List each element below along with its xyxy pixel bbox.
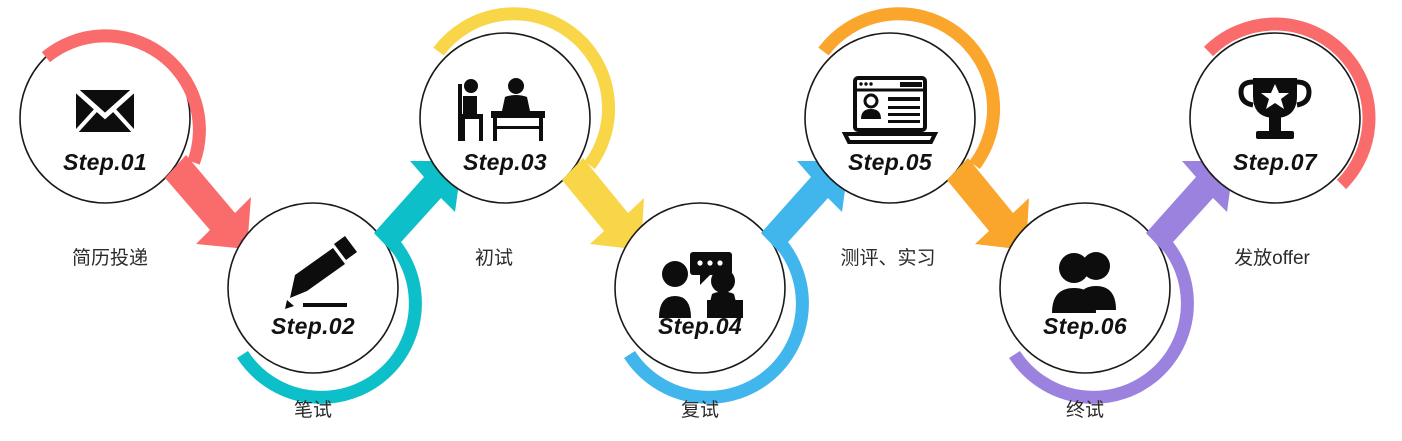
step-number-06: Step.06 <box>1043 313 1127 339</box>
step-node-step-03[interactable]: Step.03 初试 <box>420 14 644 269</box>
step-number-07: Step.07 <box>1233 149 1318 175</box>
process-flow-diagram: Step.01 简历投递 Step.02 笔试 <box>0 0 1402 441</box>
step-ring-06 <box>1000 203 1170 373</box>
step-caption-05: 测评、实习 <box>840 247 935 269</box>
arrow-step-01-to-02 <box>165 155 251 249</box>
step-node-step-07[interactable]: Step.07 发放offer <box>1190 24 1369 269</box>
step-caption-04: 复试 <box>681 399 719 421</box>
step-ring-02 <box>228 203 398 373</box>
envelope-icon <box>76 90 134 132</box>
step-node-step-05[interactable]: Step.05 测评、实习 <box>805 14 1029 269</box>
step-number-03: Step.03 <box>463 149 547 175</box>
step-ring-04 <box>615 203 785 373</box>
step-node-step-06[interactable]: Step.06 终试 <box>1000 161 1234 421</box>
step-node-step-01[interactable]: Step.01 简历投递 <box>20 33 251 269</box>
step-caption-02: 笔试 <box>294 399 332 421</box>
step-number-04: Step.04 <box>658 313 742 339</box>
step-node-step-02[interactable]: Step.02 笔试 <box>228 161 462 421</box>
step-number-05: Step.05 <box>848 149 933 175</box>
step-caption-07: 发放offer <box>1234 247 1310 269</box>
step-number-02: Step.02 <box>271 313 355 339</box>
flow-canvas: Step.01 简历投递 Step.02 笔试 <box>0 0 1402 441</box>
step-caption-06: 终试 <box>1066 399 1104 421</box>
step-number-01: Step.01 <box>63 149 147 175</box>
step-caption-03: 初试 <box>475 247 513 269</box>
step-caption-01: 简历投递 <box>72 247 148 269</box>
step-node-step-04[interactable]: Step.04 复试 <box>615 161 849 421</box>
